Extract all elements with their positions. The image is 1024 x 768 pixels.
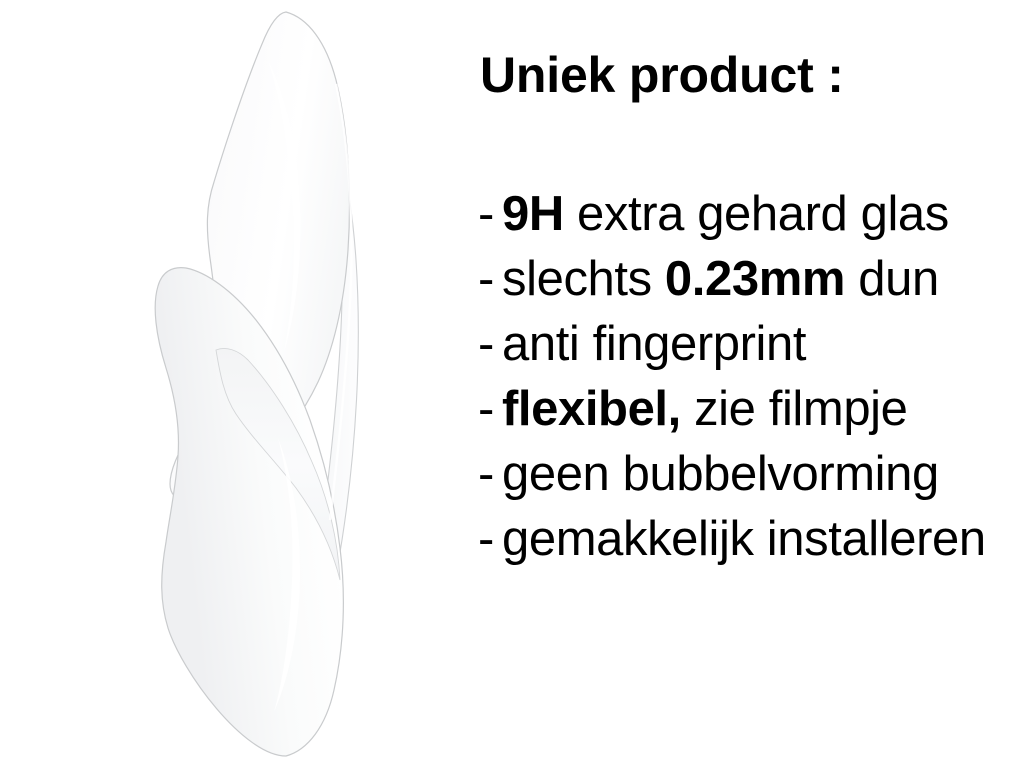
product-text-panel: Uniek product : -9H extra gehard glas -s… — [478, 0, 1024, 768]
bullet-dash: - — [478, 182, 502, 247]
bullet-dash: - — [478, 507, 502, 572]
feature-list: -9H extra gehard glas -slechts 0.23mm du… — [478, 182, 986, 572]
feature-text: gemakkelijk installeren — [502, 512, 986, 566]
feature-text: geen bubbelvorming — [502, 447, 939, 501]
bullet-dash: - — [478, 312, 502, 377]
list-item: -geen bubbelvorming — [478, 442, 986, 507]
bullet-dash: - — [478, 377, 502, 442]
feature-text: zie filmpje — [681, 382, 908, 436]
list-item: -gemakkelijk installeren — [478, 507, 986, 572]
feature-text: slechts — [502, 252, 665, 306]
feature-text: dun — [845, 252, 939, 306]
bullet-dash: - — [478, 247, 502, 312]
list-item: -anti fingerprint — [478, 312, 986, 377]
bullet-dash: - — [478, 442, 502, 507]
feature-text-strong: 9H — [502, 187, 564, 241]
feature-text-strong: flexibel, — [502, 382, 681, 436]
list-item: -flexibel, zie filmpje — [478, 377, 986, 442]
product-image-glass-protector — [0, 0, 470, 768]
list-item: -slechts 0.23mm dun — [478, 247, 986, 312]
feature-text: anti fingerprint — [502, 317, 806, 371]
product-promo-image: Uniek product : -9H extra gehard glas -s… — [0, 0, 1024, 768]
page-title: Uniek product : — [480, 50, 844, 100]
list-item: -9H extra gehard glas — [478, 182, 986, 247]
feature-text-strong: 0.23mm — [665, 252, 845, 306]
feature-text: extra gehard glas — [564, 187, 949, 241]
